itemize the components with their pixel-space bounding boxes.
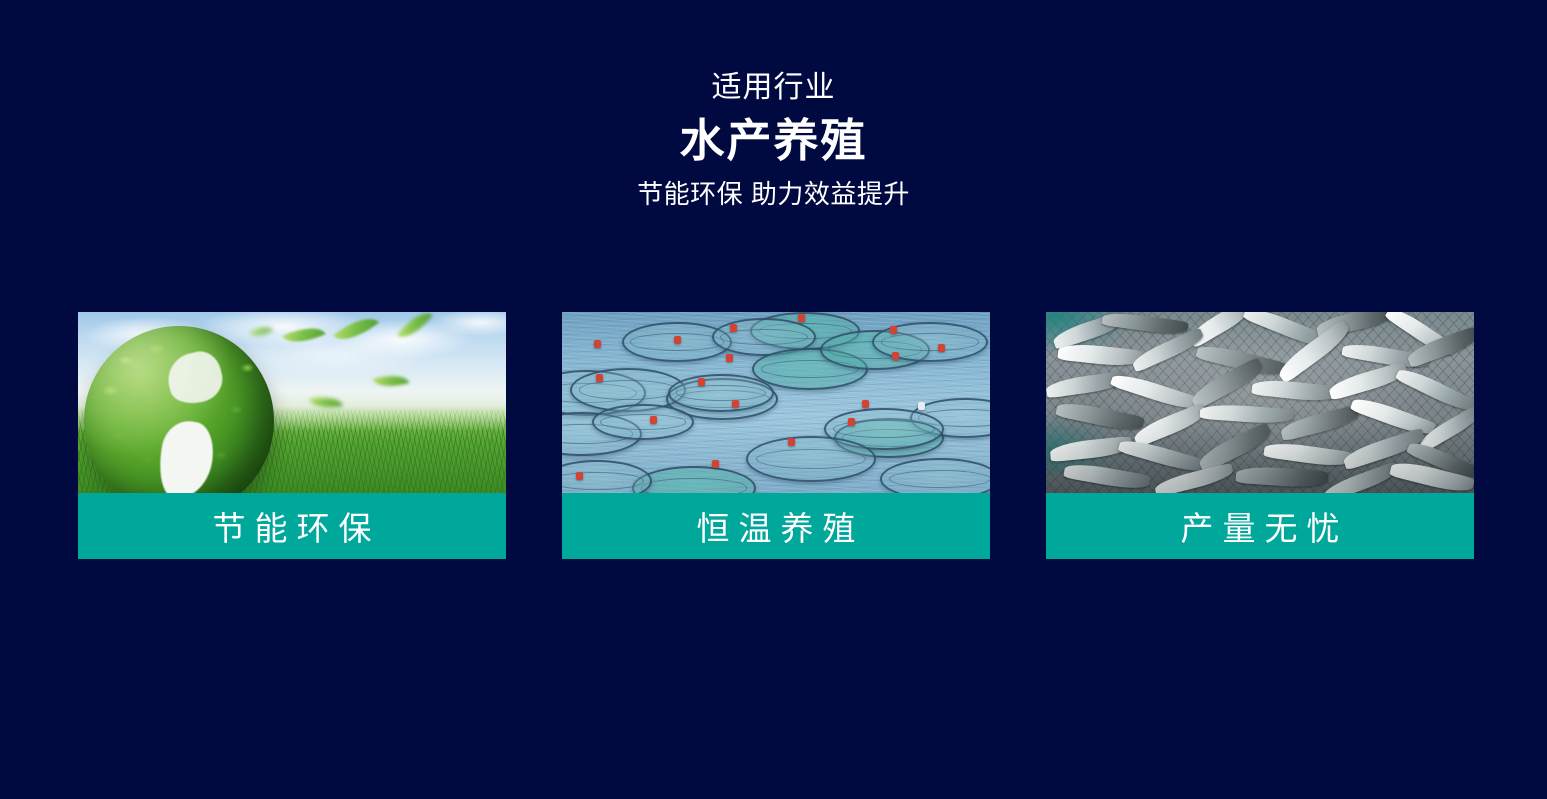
buoy-marker [892, 352, 899, 360]
buoy-marker [918, 402, 925, 410]
header-eyebrow: 适用行业 [0, 68, 1547, 108]
buoy-marker [938, 344, 945, 352]
buoy-marker [576, 472, 583, 480]
industry-card-list: 节能环保 [78, 312, 1474, 559]
buoy-marker [712, 460, 719, 468]
fish-cage-shape [880, 458, 990, 493]
page-header: 适用行业 水产养殖 节能环保 助力效益提升 [0, 0, 1547, 212]
buoy-marker [730, 324, 737, 332]
card-caption: 产量无忧 [1046, 493, 1474, 559]
buoy-marker [674, 336, 681, 344]
photo-shading [1046, 312, 1474, 493]
buoy-marker [650, 416, 657, 424]
fish-cage-shape [668, 374, 774, 412]
buoy-marker [698, 378, 705, 386]
buoy-marker [726, 354, 733, 362]
buoy-marker [596, 374, 603, 382]
buoy-marker [848, 418, 855, 426]
buoy-marker [732, 400, 739, 408]
sea-cages-photo [562, 312, 990, 493]
fish-harvest-photo [1046, 312, 1474, 493]
buoy-marker [788, 438, 795, 446]
header-subtitle: 节能环保 助力效益提升 [0, 176, 1547, 212]
industry-card-energy-saving[interactable]: 节能环保 [78, 312, 506, 559]
eco-globe-photo [78, 312, 506, 493]
fish-cage-shape [592, 404, 694, 440]
buoy-marker [594, 340, 601, 348]
industry-card-yield[interactable]: 产量无忧 [1046, 312, 1474, 559]
buoy-marker [890, 326, 897, 334]
industry-card-constant-temperature[interactable]: 恒温养殖 [562, 312, 990, 559]
fish-cage-shape [746, 436, 876, 482]
buoy-marker [862, 400, 869, 408]
card-caption: 节能环保 [78, 493, 506, 559]
buoy-marker [798, 314, 805, 322]
page-title: 水产养殖 [0, 112, 1547, 170]
card-caption: 恒温养殖 [562, 493, 990, 559]
